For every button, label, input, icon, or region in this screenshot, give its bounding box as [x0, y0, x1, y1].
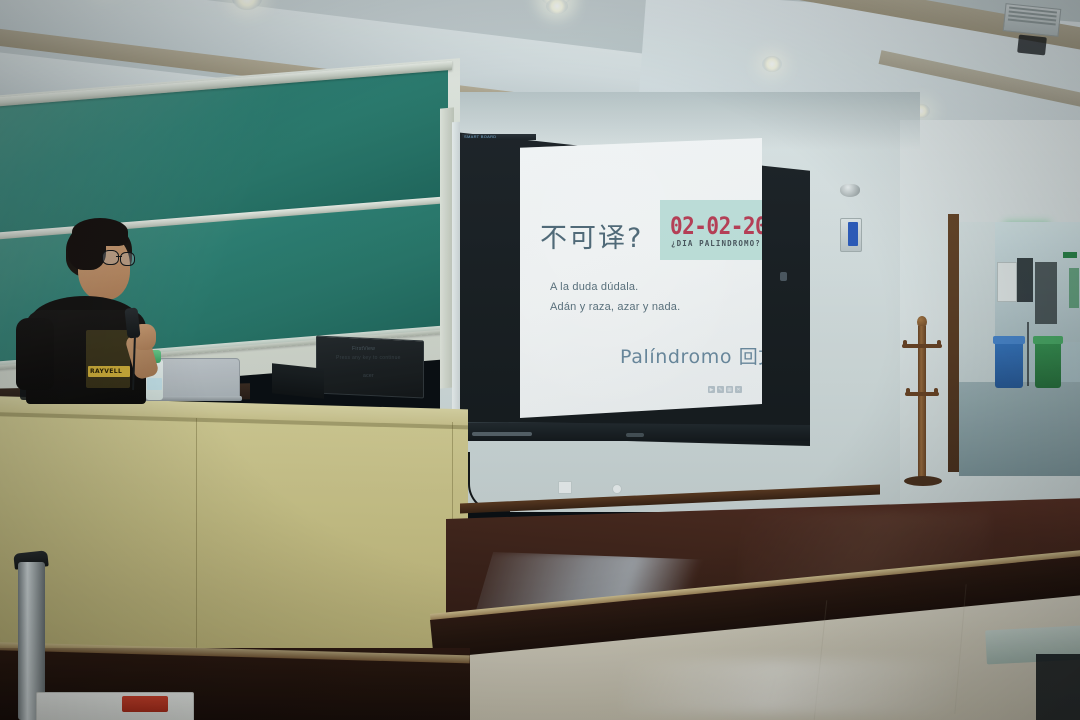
recyclable-bin — [995, 340, 1023, 388]
screen-brand-label: SMART BOARD — [464, 134, 497, 139]
other-waste-bin-lid — [1033, 336, 1063, 344]
door-jamb-left — [948, 214, 959, 472]
recyclable-bin-lid — [993, 336, 1025, 344]
coat-rack-lower-arm-right — [934, 388, 938, 395]
corridor-green-sign — [1063, 252, 1077, 258]
corridor-view — [959, 222, 1080, 476]
glasses-right-lens — [120, 252, 135, 266]
downlight-4 — [762, 56, 782, 72]
coat-rack-base — [904, 476, 942, 486]
foreground-right-dark — [1036, 654, 1080, 720]
foreground-white-box — [36, 692, 194, 720]
coat-rack-upper-arm-right — [937, 340, 941, 348]
slide-chinese-title: 不可译? — [540, 216, 643, 255]
podium-body — [0, 412, 468, 667]
hand-sanitizer-label — [147, 378, 162, 390]
corridor-floor — [959, 382, 1080, 476]
other-waste-bin — [1035, 340, 1061, 388]
desktop-monitor[interactable] — [316, 336, 424, 399]
coat-rack-pole — [918, 326, 926, 482]
date-card-date: 02-02-2020 — [670, 212, 762, 240]
presenter-left-arm — [16, 318, 54, 390]
tshirt-band-text: RAYVELL — [90, 368, 122, 375]
projection-screen[interactable]: SMART BOARD 不可译? A la duda dúdala. Adán … — [458, 126, 810, 446]
slide-line-1: A la duda dúdala. — [550, 281, 638, 293]
screen-frame-highlight — [452, 122, 460, 443]
screen-bottom-strip — [472, 432, 532, 436]
podium-seam-1 — [196, 418, 197, 648]
close-icon[interactable]: ✕ — [735, 386, 742, 393]
coat-rack-upper-arms — [902, 344, 942, 348]
corridor-mop-handle — [1027, 322, 1029, 386]
tile-floor-gloss — [620, 660, 960, 714]
date-card-caption: ¿DIA PALINDROMO? — [671, 239, 761, 248]
slide-glow — [520, 138, 762, 418]
slide-canvas: 不可译? A la duda dúdala. Adán y raza, azar… — [520, 138, 762, 418]
slide-footer: Palíndromo 回文 — [620, 342, 762, 369]
lecture-hall-photo: 安全出口 SMART BOARD 不可译? A la duda dúdala. … — [0, 0, 1080, 720]
ceiling-vent — [1003, 3, 1062, 37]
corridor-green-panel — [1069, 268, 1079, 308]
wall-outlet-1 — [558, 481, 572, 494]
presentation-toolbar[interactable]: ▶ ✎ ▦ ✕ — [708, 386, 742, 393]
wall-outlet-2 — [612, 484, 622, 494]
play-icon[interactable]: ▶ — [708, 386, 715, 393]
screen-side-button[interactable] — [780, 272, 787, 281]
coat-rack-upper-arm-left — [903, 340, 907, 348]
corridor-poster — [997, 262, 1017, 302]
coat-rack-lower-arm-left — [906, 388, 910, 395]
grid-icon[interactable]: ▦ — [726, 386, 733, 393]
monitor-brand-label: acer — [363, 373, 374, 379]
ceiling-speaker-box — [1017, 35, 1047, 56]
presenter-hair-top — [72, 218, 128, 246]
slide-line-2: Adán y raza, azar y nada. — [550, 301, 680, 313]
foreground-box-label — [122, 696, 168, 712]
glasses-left-lens — [102, 250, 119, 265]
monitor-text-line-2: Press any key to continue — [336, 355, 401, 361]
screen-bottom-logo — [626, 433, 644, 437]
pen-icon[interactable]: ✎ — [717, 386, 724, 393]
tshirt-graphic — [86, 330, 130, 388]
dome-camera-icon — [840, 184, 860, 197]
glasses-bridge — [116, 256, 122, 257]
corridor-doorway — [1035, 262, 1057, 324]
fire-alarm-indicator — [848, 222, 858, 246]
monitor-text-line-1: FirstView — [352, 346, 375, 352]
corridor-dark-panel — [1017, 258, 1033, 302]
monitor-stand — [272, 363, 324, 398]
